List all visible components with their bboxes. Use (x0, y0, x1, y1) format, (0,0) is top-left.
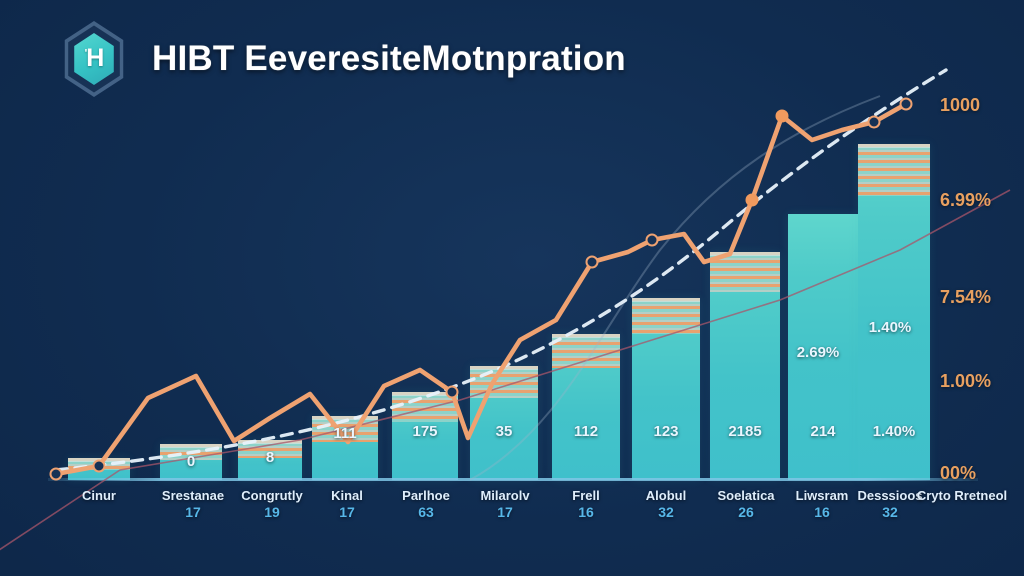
bar-value-label: 123 (632, 423, 700, 440)
y-axis-tick-1: 6.99% (940, 190, 991, 211)
page-title: HIBT EeveresiteMotnpration (152, 39, 626, 79)
bar-value-label: 2185 (710, 423, 780, 440)
bar-value-label: 1.40% (858, 423, 930, 440)
bar-value-label: 112 (552, 423, 620, 440)
hibt-hexagon-logo: 'H (58, 20, 130, 98)
y-axis-tick-4: 00% (940, 463, 976, 484)
bar-value-label: 0 (160, 453, 222, 470)
x-tick-cryto-rretneol[interactable]: Cryto Rretneol (910, 488, 1014, 503)
bar-value-label: 214 (788, 423, 858, 440)
x-tick-name: Cryto Rretneol (910, 488, 1014, 503)
x-tick-value: 32 (838, 503, 942, 521)
chart-header: 'H HIBT EeveresiteMotnpration (0, 0, 1024, 118)
bar-value-label: 175 (392, 423, 458, 440)
x-tick-name: Cinur (47, 488, 151, 503)
logo-letter-text: H (86, 44, 103, 72)
bar-value-1-40: 1.40% (850, 319, 930, 336)
bar-value-label: 8 (238, 449, 302, 466)
chart-canvas: 'H HIBT EeveresiteMotnpration (0, 0, 1024, 576)
bar-value-label: 35 (470, 423, 538, 440)
y-axis-tick-3: 1.00% (940, 371, 991, 392)
logo-letter: 'H (85, 44, 104, 73)
x-tick-cinur[interactable]: Cinur (47, 488, 151, 503)
y-axis-tick-2: 7.54% (940, 287, 991, 308)
bar-value-2-69: 2.69% (780, 344, 856, 361)
bar-value-label: 111 (312, 425, 378, 442)
